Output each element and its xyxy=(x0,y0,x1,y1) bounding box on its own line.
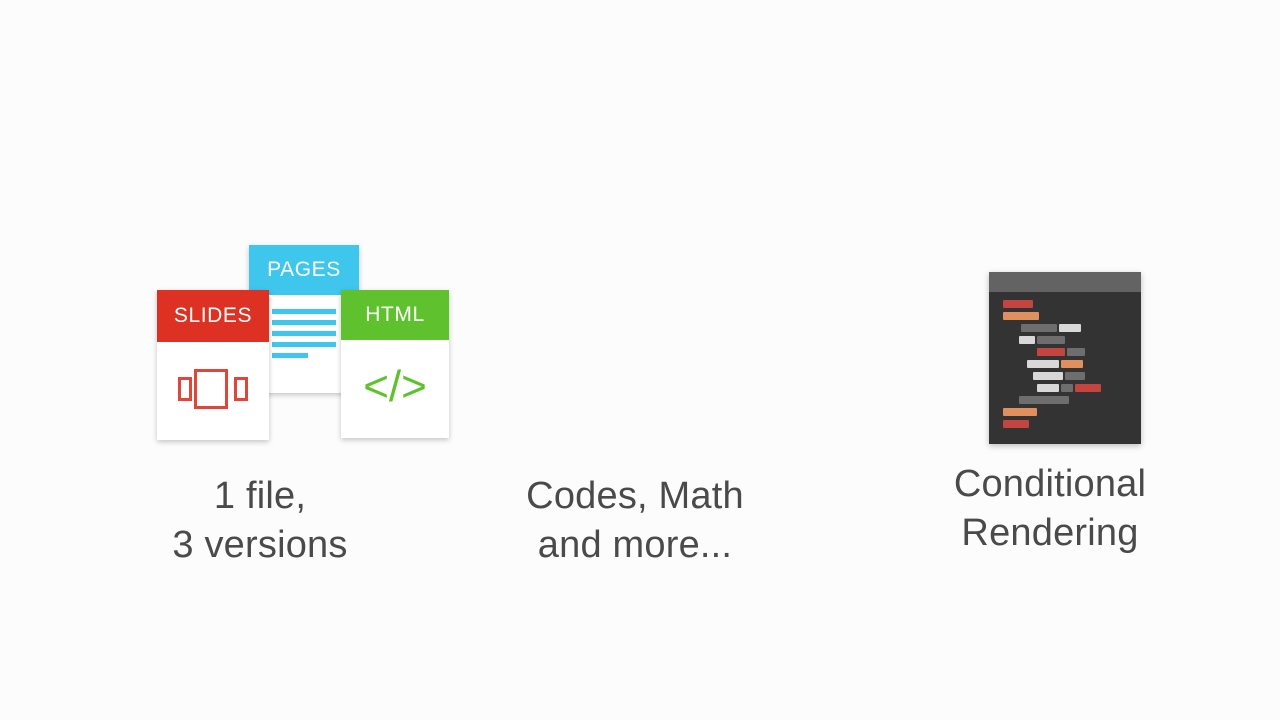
carousel-icon-right xyxy=(234,377,248,401)
caption-one-file-three-versions: 1 file, 3 versions xyxy=(50,472,470,569)
card-slides-body xyxy=(157,342,269,440)
card-pages-header: PAGES xyxy=(249,245,359,295)
feature-one-file-three-versions: PAGES SLIDES xyxy=(50,0,470,720)
text-lines-icon xyxy=(272,342,336,347)
card-pages-label: PAGES xyxy=(249,245,359,295)
card-slides-header: SLIDES xyxy=(157,290,269,342)
carousel-icon-left xyxy=(178,377,192,401)
feature-conditional-rendering: ==>hideanswer<== Conditional Rendering xyxy=(840,0,1260,720)
slide-canvas: PAGES SLIDES xyxy=(0,0,1280,720)
card-html-header: HTML xyxy=(341,290,449,340)
feature-codes-math-and-more: Codes, Math and more... xyxy=(425,0,845,720)
card-html-body: </> xyxy=(341,340,449,438)
code-tag-icon: </> xyxy=(363,365,427,409)
caption-conditional-rendering: Conditional Rendering xyxy=(840,460,1260,557)
text-lines-icon xyxy=(272,331,336,336)
text-lines-icon xyxy=(272,320,336,325)
card-html-label: HTML xyxy=(341,290,449,340)
caption-codes-math-and-more: Codes, Math and more... xyxy=(425,472,845,569)
card-slides[interactable]: SLIDES xyxy=(157,290,269,440)
text-lines-icon xyxy=(272,353,308,358)
card-slides-label: SLIDES xyxy=(157,290,269,342)
text-lines-icon xyxy=(272,309,336,314)
carousel-icon-center xyxy=(194,369,228,409)
carousel-icon xyxy=(178,369,248,413)
card-html[interactable]: HTML </> xyxy=(341,290,449,438)
